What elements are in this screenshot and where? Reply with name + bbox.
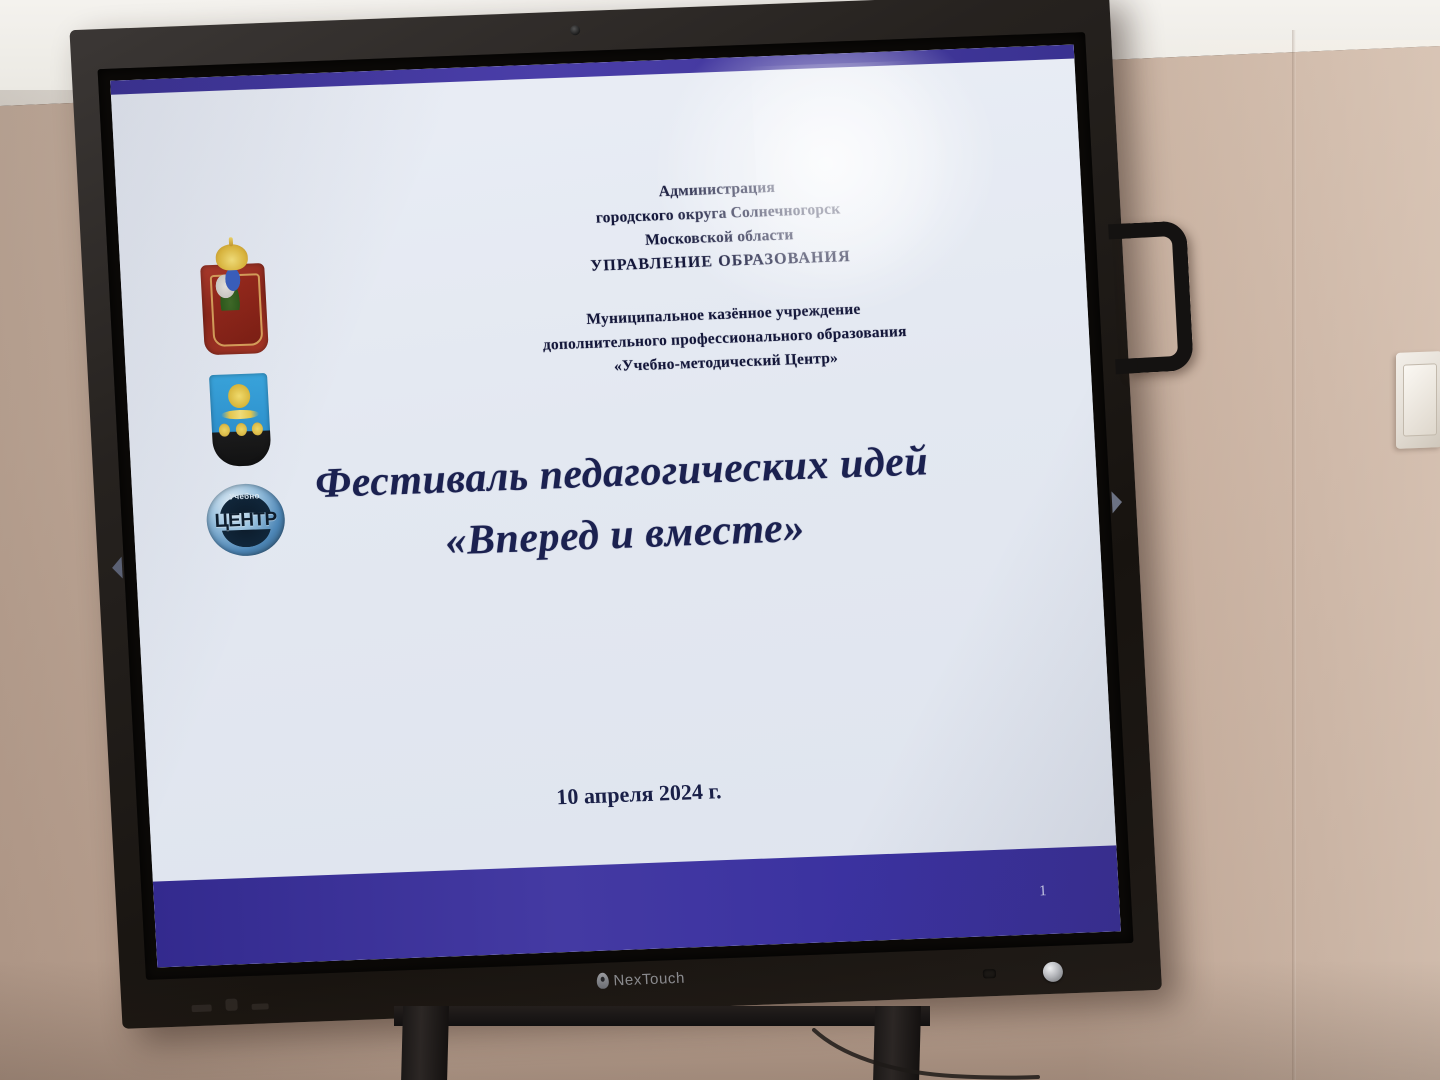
handle-mount-bottom <box>1115 358 1138 374</box>
triangle-right-icon[interactable] <box>112 557 123 579</box>
slide-top-accent-bar <box>110 45 1074 95</box>
interactive-display[interactable]: Учебно ЦЕНТР Администрация городского ок… <box>69 0 1162 1039</box>
slide-date: 10 апреля 2024 г. <box>268 767 1009 821</box>
stand-leg-right <box>873 1006 921 1080</box>
camera-icon <box>570 25 581 35</box>
solnechnogorsk-coat-of-arms-icon <box>209 373 272 467</box>
mo-crown <box>215 244 248 271</box>
handle-mount-top <box>1108 223 1131 239</box>
stand-leg-left <box>401 1006 449 1080</box>
wall-light-switch[interactable] <box>1396 351 1440 449</box>
wall-corner-edge <box>1292 30 1296 1080</box>
display-screen[interactable]: Учебно ЦЕНТР Администрация городского ок… <box>110 45 1121 968</box>
display-inner-bezel: Учебно ЦЕНТР Администрация городского ок… <box>98 32 1134 980</box>
moscow-oblast-coat-of-arms-icon <box>195 243 273 358</box>
display-bezel: Учебно ЦЕНТР Администрация городского ок… <box>69 0 1162 1029</box>
triangle-left-icon[interactable] <box>1111 491 1122 513</box>
sol-discs <box>219 422 264 437</box>
stand-crossbar <box>394 1006 930 1026</box>
room-scene: Учебно ЦЕНТР Администрация городского ок… <box>0 0 1440 1080</box>
carry-handle-icon[interactable] <box>1118 220 1194 373</box>
slide-page-number: 1 <box>1039 883 1047 900</box>
page-title: Фестиваль педагогических идей «Вперед и … <box>250 428 996 580</box>
mo-st-george-rider <box>212 266 246 311</box>
organization-header: Администрация городского округа Солнечно… <box>416 167 1026 386</box>
presentation-slide[interactable]: Учебно ЦЕНТР Администрация городского ок… <box>110 45 1121 968</box>
light-switch-rocker[interactable] <box>1403 363 1437 436</box>
display-stand <box>380 1006 940 1080</box>
handle-grip <box>1118 220 1194 373</box>
